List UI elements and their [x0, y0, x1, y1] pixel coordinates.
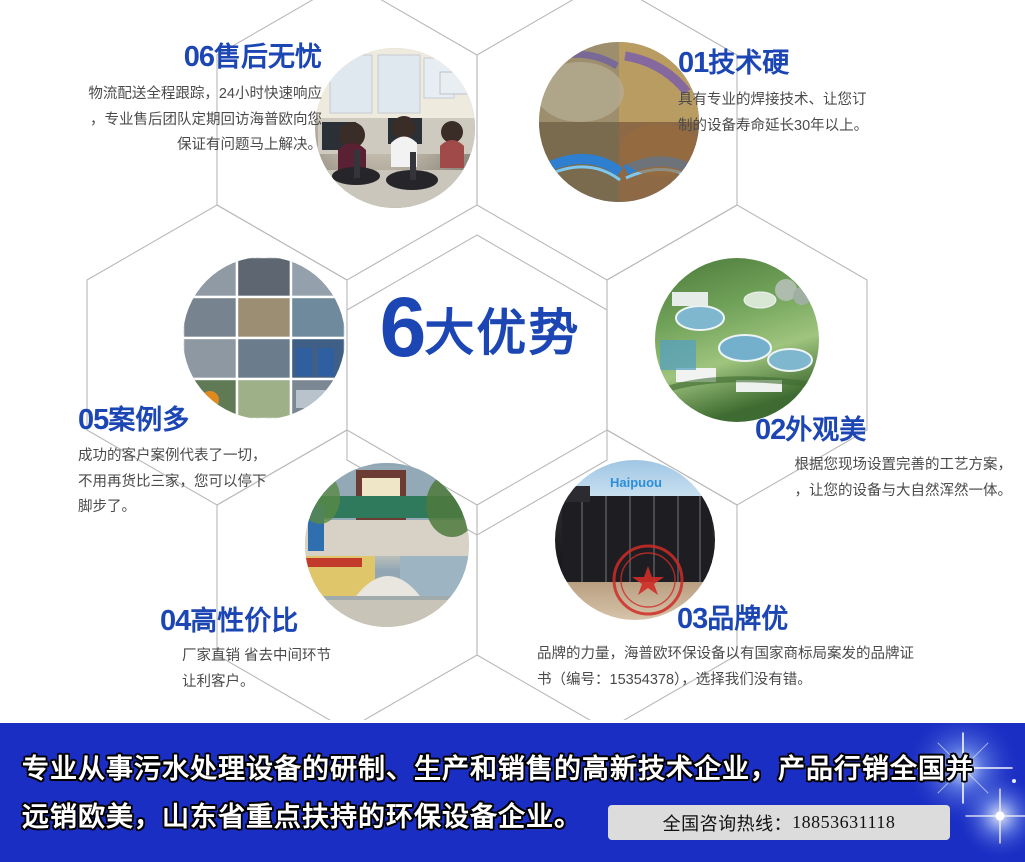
svg-text:Haipuou: Haipuou	[610, 475, 662, 490]
black-equipment-tank-photo: Haipuou	[555, 460, 715, 620]
advantage-block-01: 01技术硬 具有专业的焊接技术、让您订 制的设备寿命延长30年以上。	[678, 48, 1008, 139]
banner-line-2: 远销欧美，山东省重点扶持的环保设备企业。	[22, 795, 582, 834]
advantage-body-01: 具有专业的焊接技术、让您订 制的设备寿命延长30年以上。	[678, 88, 1008, 140]
advantage-body-line: 脚步了。	[78, 495, 398, 521]
advantage-body-line: 物流配送全程跟踪，24小时快速响应	[10, 82, 322, 108]
advantage-title-05: 案例多	[108, 405, 189, 435]
advantage-body-line: 书（编号：15354378），选择我们没有错。	[537, 668, 1007, 694]
wastewater-plant-aerial-photo	[655, 258, 820, 422]
advantage-body-line: 成功的客户案例代表了一切，	[78, 444, 398, 470]
advantage-body-line: 根据您现场设置完善的工艺方案，	[700, 453, 1012, 479]
center-number: 6	[380, 280, 425, 374]
advantage-heading-01: 01技术硬	[678, 48, 1008, 80]
advantage-body-line: 制的设备寿命延长30年以上。	[678, 114, 1008, 140]
advantage-title-01: 技术硬	[708, 48, 789, 78]
advantage-title-03: 品牌优	[707, 604, 788, 634]
hotline-number: 18853631118	[792, 812, 895, 833]
case-collage-photo	[183, 257, 345, 419]
advantage-block-05: 05案例多 成功的客户案例代表了一切， 不用再货比三家，您可以停下 脚步了。	[78, 405, 398, 521]
advantage-number-01: 01	[678, 47, 708, 79]
advantage-number-02: 02	[755, 414, 785, 446]
advantage-heading-05: 05案例多	[78, 405, 398, 437]
advantage-body-line: ，专业售后团队定期回访海普欧向您	[10, 108, 322, 134]
hotline-label: 全国咨询热线：	[663, 810, 793, 836]
advantage-body-line: 厂家直销 省去中间环节	[182, 644, 490, 670]
advantage-number-03: 03	[677, 603, 707, 635]
advantage-body-line: ，让您的设备与大自然浑然一体。	[700, 479, 1012, 505]
advantage-body-line: 不用再货比三家，您可以停下	[78, 470, 398, 496]
advantage-block-04: 04高性价比 厂家直销 省去中间环节 让利客户。	[160, 606, 490, 695]
advantage-body-line: 品牌的力量，海普欧环保设备以有国家商标局案发的品牌证	[537, 642, 1007, 668]
advantage-title-04: 高性价比	[190, 606, 298, 636]
bottom-banner: 专业从事污水处理设备的研制、生产和销售的高新技术企业，产品行销全国并 远销欧美，…	[0, 723, 1025, 862]
advantage-number-04: 04	[160, 605, 190, 637]
banner-sparkle-background	[0, 723, 1025, 862]
advantage-number-05: 05	[78, 404, 108, 436]
banner-line-1: 专业从事污水处理设备的研制、生产和销售的高新技术企业，产品行销全国并	[22, 747, 974, 786]
office-staff-photo	[315, 48, 476, 210]
advantage-number-06: 06	[184, 41, 214, 73]
advantage-body-02: 根据您现场设置完善的工艺方案， ，让您的设备与大自然浑然一体。	[700, 453, 1012, 505]
advantage-body-04: 厂家直销 省去中间环节 让利客户。	[160, 644, 490, 696]
advantage-body-03: 品牌的力量，海普欧环保设备以有国家商标局案发的品牌证 书（编号：15354378…	[537, 642, 1007, 694]
hotline-box: 全国咨询热线：18853631118	[608, 805, 950, 840]
advantage-body-06: 物流配送全程跟踪，24小时快速响应 ，专业售后团队定期回访海普欧向您 保证有问题…	[10, 82, 322, 159]
center-text: 大优势	[424, 305, 580, 361]
advantage-heading-04: 04高性价比	[160, 606, 490, 638]
advantage-body-line: 让利客户。	[182, 670, 490, 696]
welding-pipes-photo	[536, 42, 700, 202]
advantage-block-03: 03品牌优 品牌的力量，海普欧环保设备以有国家商标局案发的品牌证 书（编号：15…	[537, 604, 1007, 693]
advantage-body-05: 成功的客户案例代表了一切， 不用再货比三家，您可以停下 脚步了。	[78, 444, 398, 521]
advantage-title-02: 外观美	[785, 415, 866, 445]
advantage-heading-06: 06售后无忧	[10, 42, 322, 74]
advantage-body-line: 具有专业的焊接技术、让您订	[678, 88, 1008, 114]
advantage-heading-02: 02外观美	[700, 415, 1012, 447]
advantage-block-02: 02外观美 根据您现场设置完善的工艺方案， ，让您的设备与大自然浑然一体。	[700, 415, 1012, 504]
advantage-block-06: 06售后无忧 物流配送全程跟踪，24小时快速响应 ，专业售后团队定期回访海普欧向…	[10, 42, 322, 159]
advantage-body-line: 保证有问题马上解决。	[10, 133, 322, 159]
advantage-title-06: 售后无忧	[214, 42, 322, 72]
advantage-heading-03: 03品牌优	[537, 604, 1007, 636]
advantages-infographic: Haipuou	[0, 0, 1025, 862]
center-label: 6大优势	[345, 290, 615, 366]
